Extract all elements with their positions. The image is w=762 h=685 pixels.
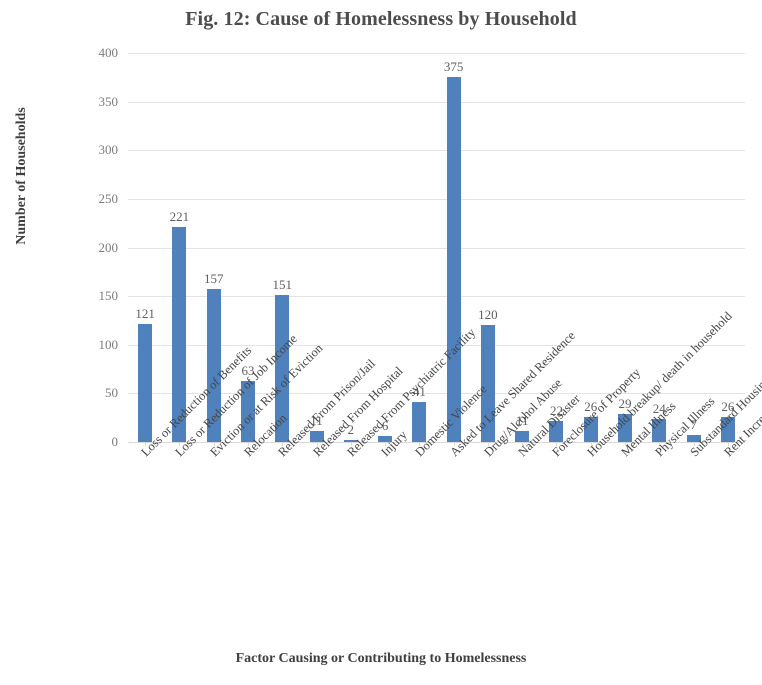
y-tick-label-300: 300 [78,143,118,156]
gridline-350 [128,102,745,103]
bar-value-label: 151 [257,278,307,291]
x-axis-title: Factor Causing or Contributing to Homele… [0,651,762,667]
bar-value-label: 157 [189,272,239,285]
gridline-400 [128,53,745,54]
y-tick-label-0: 0 [78,435,118,448]
gridline-300 [128,150,745,151]
y-axis-title: Number of Households [14,76,30,276]
bar-value-label: 221 [154,210,204,223]
gridline-250 [128,199,745,200]
y-tick-label-400: 400 [78,46,118,59]
chart-title: Fig. 12: Cause of Homelessness by Househ… [0,8,762,31]
gridline-200 [128,248,745,249]
y-axis-tick-labels: 400350300250200150100500 [74,53,118,442]
bar-value-label: 375 [429,60,479,73]
bar-value-label: 120 [463,308,513,321]
y-tick-label-200: 200 [78,241,118,254]
chart-figure: Fig. 12: Cause of Homelessness by Househ… [0,0,762,685]
y-tick-label-50: 50 [78,386,118,399]
bar[interactable] [138,324,152,442]
y-tick-label-150: 150 [78,289,118,302]
bar-value-label: 121 [120,307,170,320]
y-tick-label-350: 350 [78,95,118,108]
y-tick-label-100: 100 [78,338,118,351]
bar[interactable] [447,77,461,442]
y-tick-label-250: 250 [78,192,118,205]
